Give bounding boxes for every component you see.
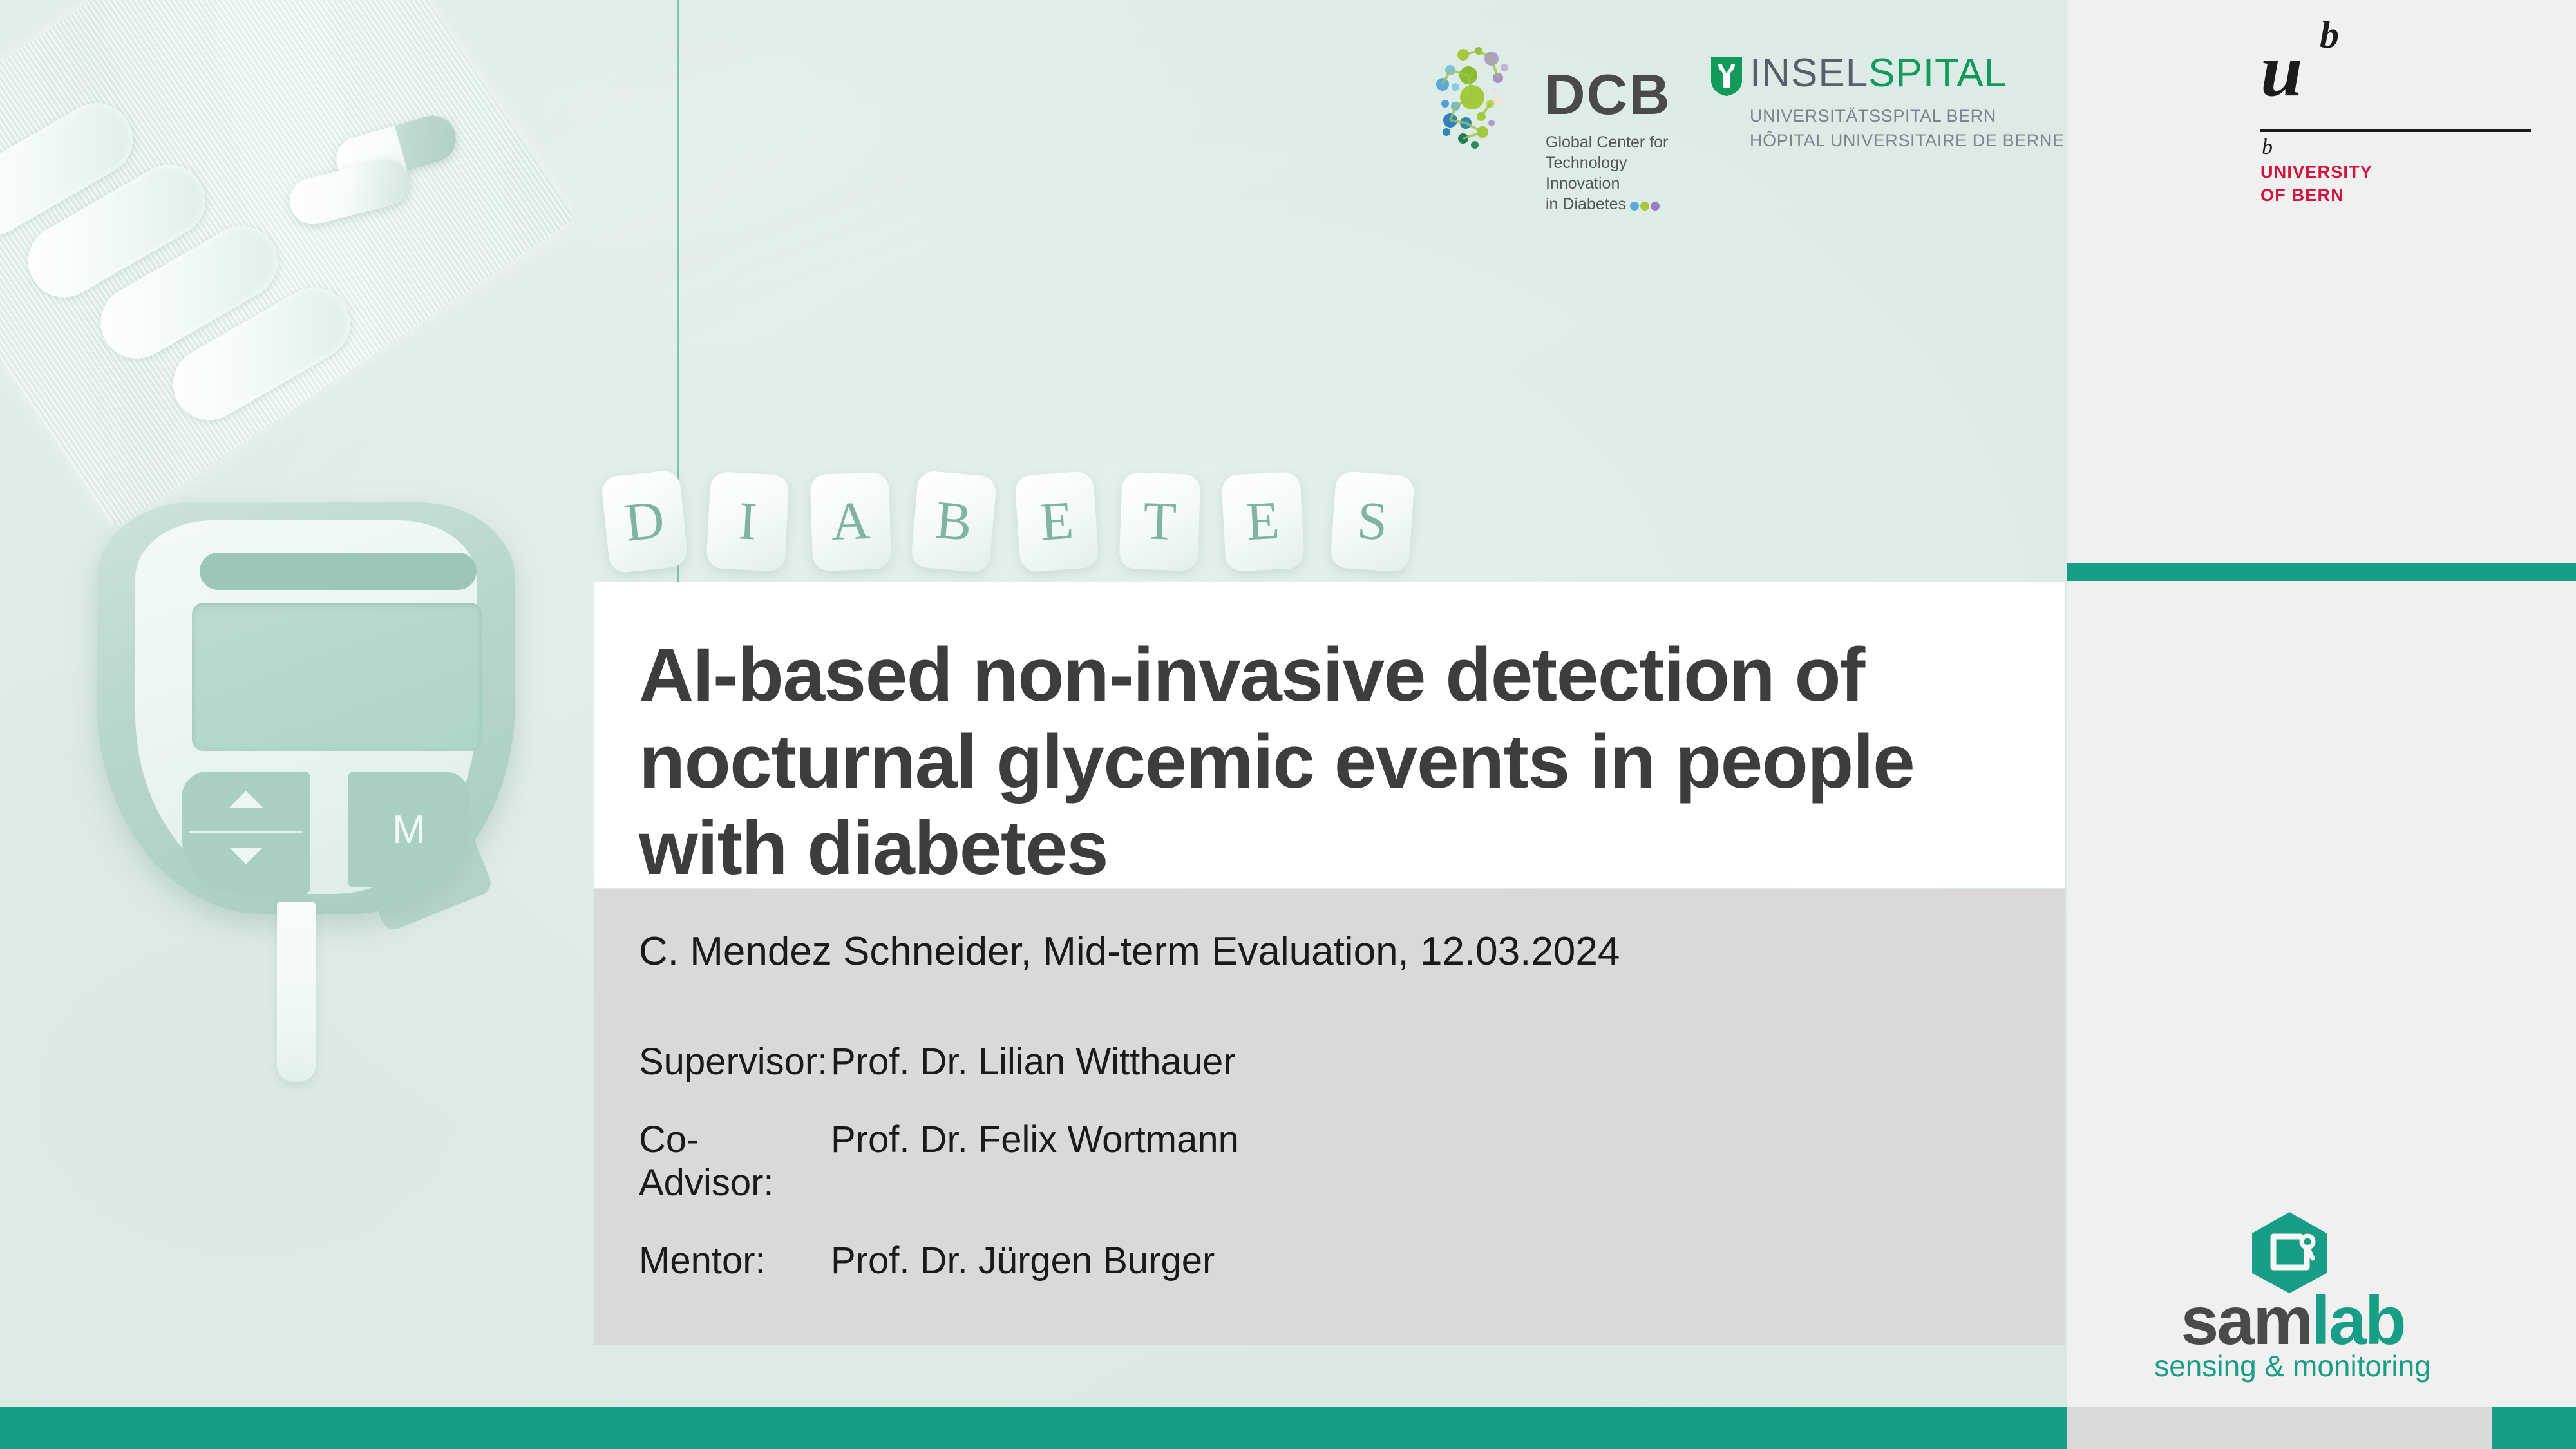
samlab-word-teal: lab <box>2312 1283 2405 1359</box>
unibe-small-b: b <box>2262 137 2273 158</box>
dcb-tagline-line3: in Diabetes <box>1546 195 1626 213</box>
unibe-wordmark-line2: OF BERN <box>2260 184 2372 207</box>
insel-word-dark: INSEL <box>1750 51 1868 95</box>
person-name: Prof. Dr. Lilian Witthauer <box>831 1040 1236 1083</box>
right-panel <box>2067 0 2576 1407</box>
letter-tile: A <box>810 472 891 571</box>
letter-tile: D <box>600 469 688 574</box>
teal-footer-bar-left <box>0 1407 2067 1449</box>
person-role: Co-Advisor: <box>639 1118 831 1204</box>
inselspital-wordmark: INSELSPITAL <box>1750 53 2007 93</box>
samlab-word-dark: sam <box>2181 1283 2311 1359</box>
diabetes-letter-tiles: D I A B E T E S <box>605 473 1443 583</box>
dcb-acronym: DCB <box>1544 66 1671 123</box>
meter-arrow-buttons <box>182 772 310 894</box>
dcb-logo: DCB Global Center for Technology Innovat… <box>1436 35 1687 216</box>
inselspital-logo: INSELSPITAL UNIVERSITÄTSSPITAL BERN HÔPI… <box>1710 55 2045 177</box>
person-name: Prof. Dr. Felix Wortmann <box>831 1118 1239 1161</box>
dcb-tagline-line1: Global Center for <box>1546 132 1694 153</box>
person-role: Mentor: <box>639 1239 831 1282</box>
slide-byline: C. Mendez Schneider, Mid-term Evaluation… <box>639 928 2020 976</box>
meter-body: M <box>97 502 515 914</box>
inselspital-subtitle-de: UNIVERSITÄTSSPITAL BERN <box>1750 104 2065 128</box>
person-row: Supervisor: Prof. Dr. Lilian Witthauer <box>639 1040 2020 1083</box>
slide-title: AI-based non-invasive detection of noctu… <box>639 632 2020 892</box>
meter-strip-slot <box>200 553 477 590</box>
glucose-meter-image: M <box>84 502 535 1185</box>
unibe-b-superscript: b <box>2320 15 2339 54</box>
dcb-tagline: Global Center for Technology Innovation … <box>1546 132 1694 216</box>
samlab-logo: samlab sensing & monitoring <box>2125 1211 2460 1397</box>
button-divider <box>189 831 303 833</box>
inselspital-subtitle-fr: HÔPITAL UNIVERSITAIRE DE BERNE <box>1750 128 2065 153</box>
letter-tile: E <box>1014 471 1099 573</box>
dcb-tagline-line2: Technology Innovation <box>1546 153 1694 194</box>
university-of-bern-logo: u b b UNIVERSITY OF BERN <box>2260 32 2531 206</box>
test-strip <box>277 902 316 1082</box>
letter-tile: I <box>706 471 790 572</box>
dcb-globe-icon <box>1436 42 1539 155</box>
samlab-wordmark: samlab <box>2154 1287 2431 1355</box>
person-row: Co-Advisor: Prof. Dr. Felix Wortmann <box>639 1118 2020 1204</box>
person-row: Mentor: Prof. Dr. Jürgen Burger <box>639 1239 2020 1282</box>
unibe-wordmark-line1: UNIVERSITY <box>2260 161 2372 184</box>
dcb-tagline-line3-wrap: in Diabetes <box>1546 194 1694 216</box>
letter-tile: E <box>1221 471 1305 572</box>
info-block: C. Mendez Schneider, Mid-term Evaluation… <box>594 889 2065 1345</box>
inselspital-shield-icon <box>1710 56 1743 97</box>
unibe-u-mark: u <box>2260 32 2303 108</box>
teal-accent-bar-right <box>2067 563 2576 581</box>
inselspital-subtitle: UNIVERSITÄTSSPITAL BERN HÔPITAL UNIVERSI… <box>1750 104 2065 153</box>
gray-footer-bar <box>2067 1407 2492 1449</box>
person-role: Supervisor: <box>639 1040 831 1083</box>
arrow-up-icon <box>229 791 263 808</box>
samlab-hexagon-sensor-icon <box>2248 1211 2331 1294</box>
unibe-rule-divider <box>2260 129 2531 132</box>
meter-memory-button: M <box>348 772 470 887</box>
insel-word-green: SPITAL <box>1868 51 2007 95</box>
letter-tile: B <box>911 470 998 573</box>
teal-footer-bar-right <box>2492 1407 2576 1449</box>
arrow-down-icon <box>229 848 263 864</box>
samlab-tagline: sensing & monitoring <box>2154 1351 2431 1381</box>
unibe-wordmark: UNIVERSITY OF BERN <box>2260 161 2372 207</box>
presentation-slide: D I A B E T E S M <box>0 0 2576 1449</box>
title-block: AI-based non-invasive detection of noctu… <box>594 582 2065 888</box>
meter-display-screen <box>192 603 482 751</box>
meter-face: M <box>135 520 477 894</box>
people-list: Supervisor: Prof. Dr. Lilian Witthauer C… <box>639 1040 2020 1282</box>
dcb-dots-icon <box>1630 195 1661 216</box>
letter-tile: T <box>1119 472 1200 571</box>
person-name: Prof. Dr. Jürgen Burger <box>831 1239 1215 1282</box>
letter-tile: S <box>1330 471 1415 573</box>
